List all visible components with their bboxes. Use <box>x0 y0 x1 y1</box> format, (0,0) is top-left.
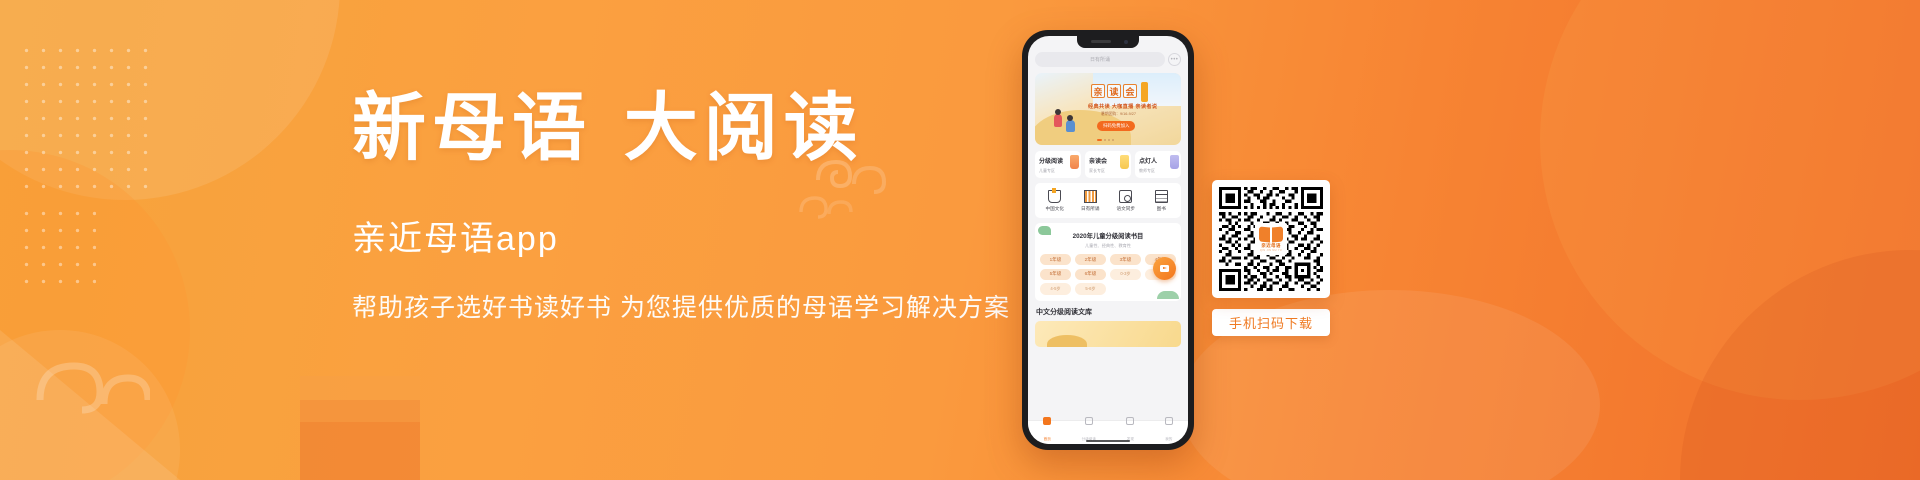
quick-link-label: 日有所诵 <box>1073 206 1109 212</box>
phone-screen: 日有所诵 ••• 亲 读 会 经典共读 大咖直播 亲读者说 暑期团购：9 <box>1028 36 1188 444</box>
phone-mockup: 日有所诵 ••• 亲 读 会 经典共读 大咖直播 亲读者说 暑期团购：9 <box>1022 30 1194 450</box>
decor-cube-front <box>300 400 420 480</box>
tab-profile[interactable]: 我的 <box>1165 417 1173 444</box>
qr-download-block: 亲近母语 QIN JIN MU YU 手机扫码下载 <box>1212 180 1330 336</box>
category-card[interactable]: 点灯人 教师专区 <box>1135 151 1181 178</box>
decor-triangle-bottom-left <box>0 330 180 480</box>
note-icon <box>1120 155 1129 169</box>
more-options-icon[interactable]: ••• <box>1168 53 1181 66</box>
quick-link[interactable]: 图书 <box>1144 190 1180 212</box>
ruyi-cloud-ornament-bottom-left <box>30 330 150 420</box>
qr-code-pattern: 亲近母语 QIN JIN MU YU <box>1219 187 1323 291</box>
open-book-icon <box>1084 190 1097 203</box>
hero-join-button[interactable]: 扫码免费加入 <box>1097 121 1135 131</box>
decor-cube-top <box>300 376 420 422</box>
search-input[interactable]: 日有所诵 <box>1035 52 1165 67</box>
qr-code[interactable]: 亲近母语 QIN JIN MU YU <box>1212 180 1330 298</box>
download-button[interactable]: 手机扫码下载 <box>1212 309 1330 336</box>
decor-circle-far-right <box>1680 250 1920 480</box>
frame-icon <box>1119 190 1132 203</box>
bookmark-icon <box>1070 155 1079 169</box>
app-search-row: 日有所诵 ••• <box>1035 52 1181 67</box>
quick-link[interactable]: 日有所诵 <box>1073 190 1109 212</box>
booklist-title: 2020年儿童分级阅读书目 <box>1040 231 1176 240</box>
tab-home[interactable]: 首页 <box>1043 417 1051 444</box>
qr-logo-pinyin: QIN JIN MU YU <box>1260 249 1282 252</box>
decor-dot-grid-upper <box>18 42 148 192</box>
hero-subtitle: 经典共读 大咖直播 亲读者说 <box>1088 103 1157 110</box>
decor-circle-top-left <box>0 0 340 200</box>
hero-title-char: 会 <box>1123 84 1137 98</box>
hero-banner-card[interactable]: 亲 读 会 经典共读 大咖直播 亲读者说 暑期团购：9/16-9/27 扫码免费… <box>1035 73 1181 145</box>
decor-circle-right-glow <box>1540 0 1920 400</box>
compass-icon <box>1126 417 1134 425</box>
grass-decor-icon <box>1157 291 1179 299</box>
hero-child-red <box>1054 114 1062 127</box>
hero-title-char: 读 <box>1107 84 1121 98</box>
category-card[interactable]: 亲读会 家长专区 <box>1085 151 1131 178</box>
hero-ribbon <box>1141 82 1148 102</box>
open-book-logo-icon <box>1259 227 1283 242</box>
grade-chip[interactable]: 3年级 <box>1110 254 1141 265</box>
lines-icon <box>1155 190 1168 203</box>
quick-link[interactable]: 语文同步 <box>1108 190 1144 212</box>
tagline: 帮助孩子选好书读好书 为您提供优质的母语学习解决方案 <box>352 288 1012 324</box>
hero-child-blue <box>1066 120 1075 132</box>
quick-link-label: 中国文化 <box>1037 206 1073 212</box>
tab-label: 我的 <box>1165 437 1172 441</box>
age-chip[interactable]: 4-5岁 <box>1040 283 1071 294</box>
promo-banner: 新母语 大阅读 亲近母语app 帮助孩子选好书读好书 为您提供优质的母语学习解决… <box>0 0 1920 480</box>
page-title: 新母语 大阅读 <box>352 88 1012 169</box>
hero-title-char: 亲 <box>1091 84 1105 98</box>
user-icon <box>1165 417 1173 425</box>
quick-link-label: 语文同步 <box>1108 206 1144 212</box>
cup-icon <box>1048 190 1061 203</box>
age-chip[interactable]: 0-3岁 <box>1110 269 1141 280</box>
tab-label: 首页 <box>1044 437 1051 441</box>
category-card[interactable]: 分级阅读 儿童专区 <box>1035 151 1081 178</box>
home-icon <box>1043 417 1051 425</box>
phone-notch <box>1077 36 1139 48</box>
category-card-row: 分级阅读 儿童专区 亲读会 家长专区 点灯人 教师专区 <box>1035 151 1181 178</box>
carousel-dots[interactable] <box>1097 139 1114 141</box>
booklist-card[interactable]: 2020年儿童分级阅读书目 儿童性、经典性、教育性 1年级 2年级 3年级 4年… <box>1035 223 1181 301</box>
copy-block: 新母语 大阅读 亲近母语app 帮助孩子选好书读好书 为您提供优质的母语学习解决… <box>352 88 1012 324</box>
leaf-decor-icon <box>1038 226 1051 235</box>
book-icon <box>1085 417 1093 425</box>
hero-date: 暑期团购：9/16-9/27 <box>1101 112 1136 117</box>
grade-chip[interactable]: 2年级 <box>1075 254 1106 265</box>
grade-chip[interactable]: 1年级 <box>1040 254 1071 265</box>
person-icon <box>1170 155 1179 169</box>
video-play-icon[interactable] <box>1153 257 1176 280</box>
hero-title: 亲 读 会 <box>1091 84 1137 98</box>
quick-link-label: 图书 <box>1144 206 1180 212</box>
library-banner-card[interactable] <box>1035 321 1181 347</box>
quick-links-row: 中国文化 日有所诵 语文同步 图书 <box>1035 183 1181 218</box>
grade-chip[interactable]: 6年级 <box>1075 269 1106 280</box>
decor-circle-left-mid <box>0 150 190 480</box>
age-chip[interactable]: 5-6岁 <box>1075 283 1106 294</box>
decor-circle-bottom-left <box>0 330 180 480</box>
booklist-subtitle: 儿童性、经典性、教育性 <box>1040 243 1176 249</box>
decor-dot-grid-lower <box>18 205 96 295</box>
app-name-subtitle: 亲近母语app <box>352 211 1012 260</box>
qr-center-logo: 亲近母语 QIN JIN MU YU <box>1255 223 1287 255</box>
quick-link[interactable]: 中国文化 <box>1037 190 1073 212</box>
grade-chip[interactable]: 5年级 <box>1040 269 1071 280</box>
library-section-title: 中文分级阅读文库 <box>1035 307 1181 317</box>
